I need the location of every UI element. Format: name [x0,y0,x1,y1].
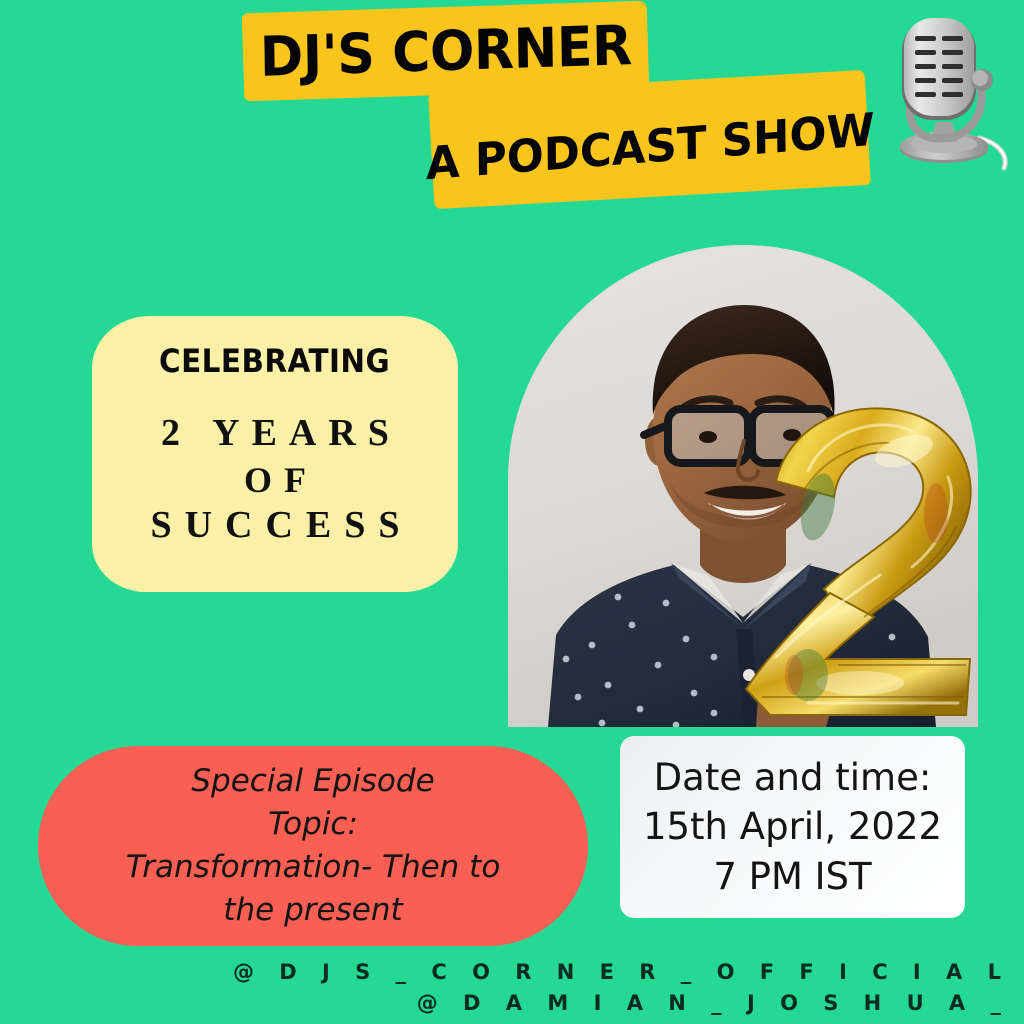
datetime-box: Date and time: 15th April, 2022 7 PM IST [620,736,965,918]
studio-microphone-icon [884,10,1010,178]
topic-line-3: Transformation- Then to [126,846,501,889]
topic-line-1: Special Episode [191,760,434,803]
success-line: SUCCESS [137,506,412,546]
topic-pill: Special Episode Topic: Transformation- T… [38,746,588,946]
datetime-label: Date and time: [654,753,932,802]
datetime-time: 7 PM IST [713,852,871,901]
datetime-date: 15th April, 2022 [643,802,942,851]
topic-line-2: Topic: [268,803,358,846]
podcast-title: DJ'S CORNER [259,18,632,85]
subtitle-banner: A PODCAST SHOW [428,70,871,209]
of-line: OF [232,462,318,500]
celebrating-label: CELEBRATING [159,342,390,380]
podcast-subtitle: A PODCAST SHOW [425,107,874,187]
celebrating-card: CELEBRATING 2 YEARS OF SUCCESS [92,316,458,592]
topic-line-4: the present [223,889,402,932]
handle-primary: @ D J S _ C O R N E R _ O F F I C I A L [0,957,1010,987]
social-handles: @ D J S _ C O R N E R _ O F F I C I A L … [0,957,1010,1018]
handle-secondary: @ D A M I A N _ J O S H U A _ [0,988,1010,1018]
host-photo [508,245,978,727]
years-line: 2 YEARS [149,414,401,454]
podcast-promo-poster: DJ'S CORNER A PODCAST SHOW [0,0,1024,1024]
